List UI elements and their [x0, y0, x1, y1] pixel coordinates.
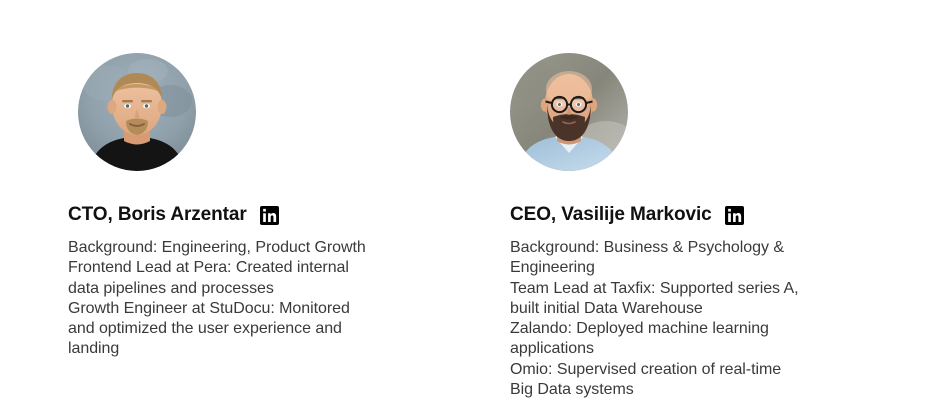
member-name: CTO, Boris Arzentar: [68, 203, 247, 227]
avatar-photo: [78, 53, 196, 171]
member-name-row: CEO, Vasilije Markovic: [510, 203, 910, 227]
avatar: [510, 53, 628, 171]
team-member-card: CEO, Vasilije Markovic Background: Busin…: [510, 0, 910, 400]
linkedin-icon[interactable]: [260, 206, 279, 225]
team-member-card: CTO, Boris Arzentar Background: Engineer…: [68, 0, 468, 360]
linkedin-icon[interactable]: [725, 206, 744, 225]
team-members-section: CTO, Boris Arzentar Background: Engineer…: [0, 0, 948, 412]
member-bio: Background: Engineering, Product Growth …: [68, 238, 468, 360]
avatar-photo: [510, 53, 628, 171]
avatar: [78, 53, 196, 171]
member-name-row: CTO, Boris Arzentar: [68, 203, 468, 227]
member-bio: Background: Business & Psychology & Engi…: [510, 238, 910, 400]
member-name: CEO, Vasilije Markovic: [510, 203, 712, 227]
